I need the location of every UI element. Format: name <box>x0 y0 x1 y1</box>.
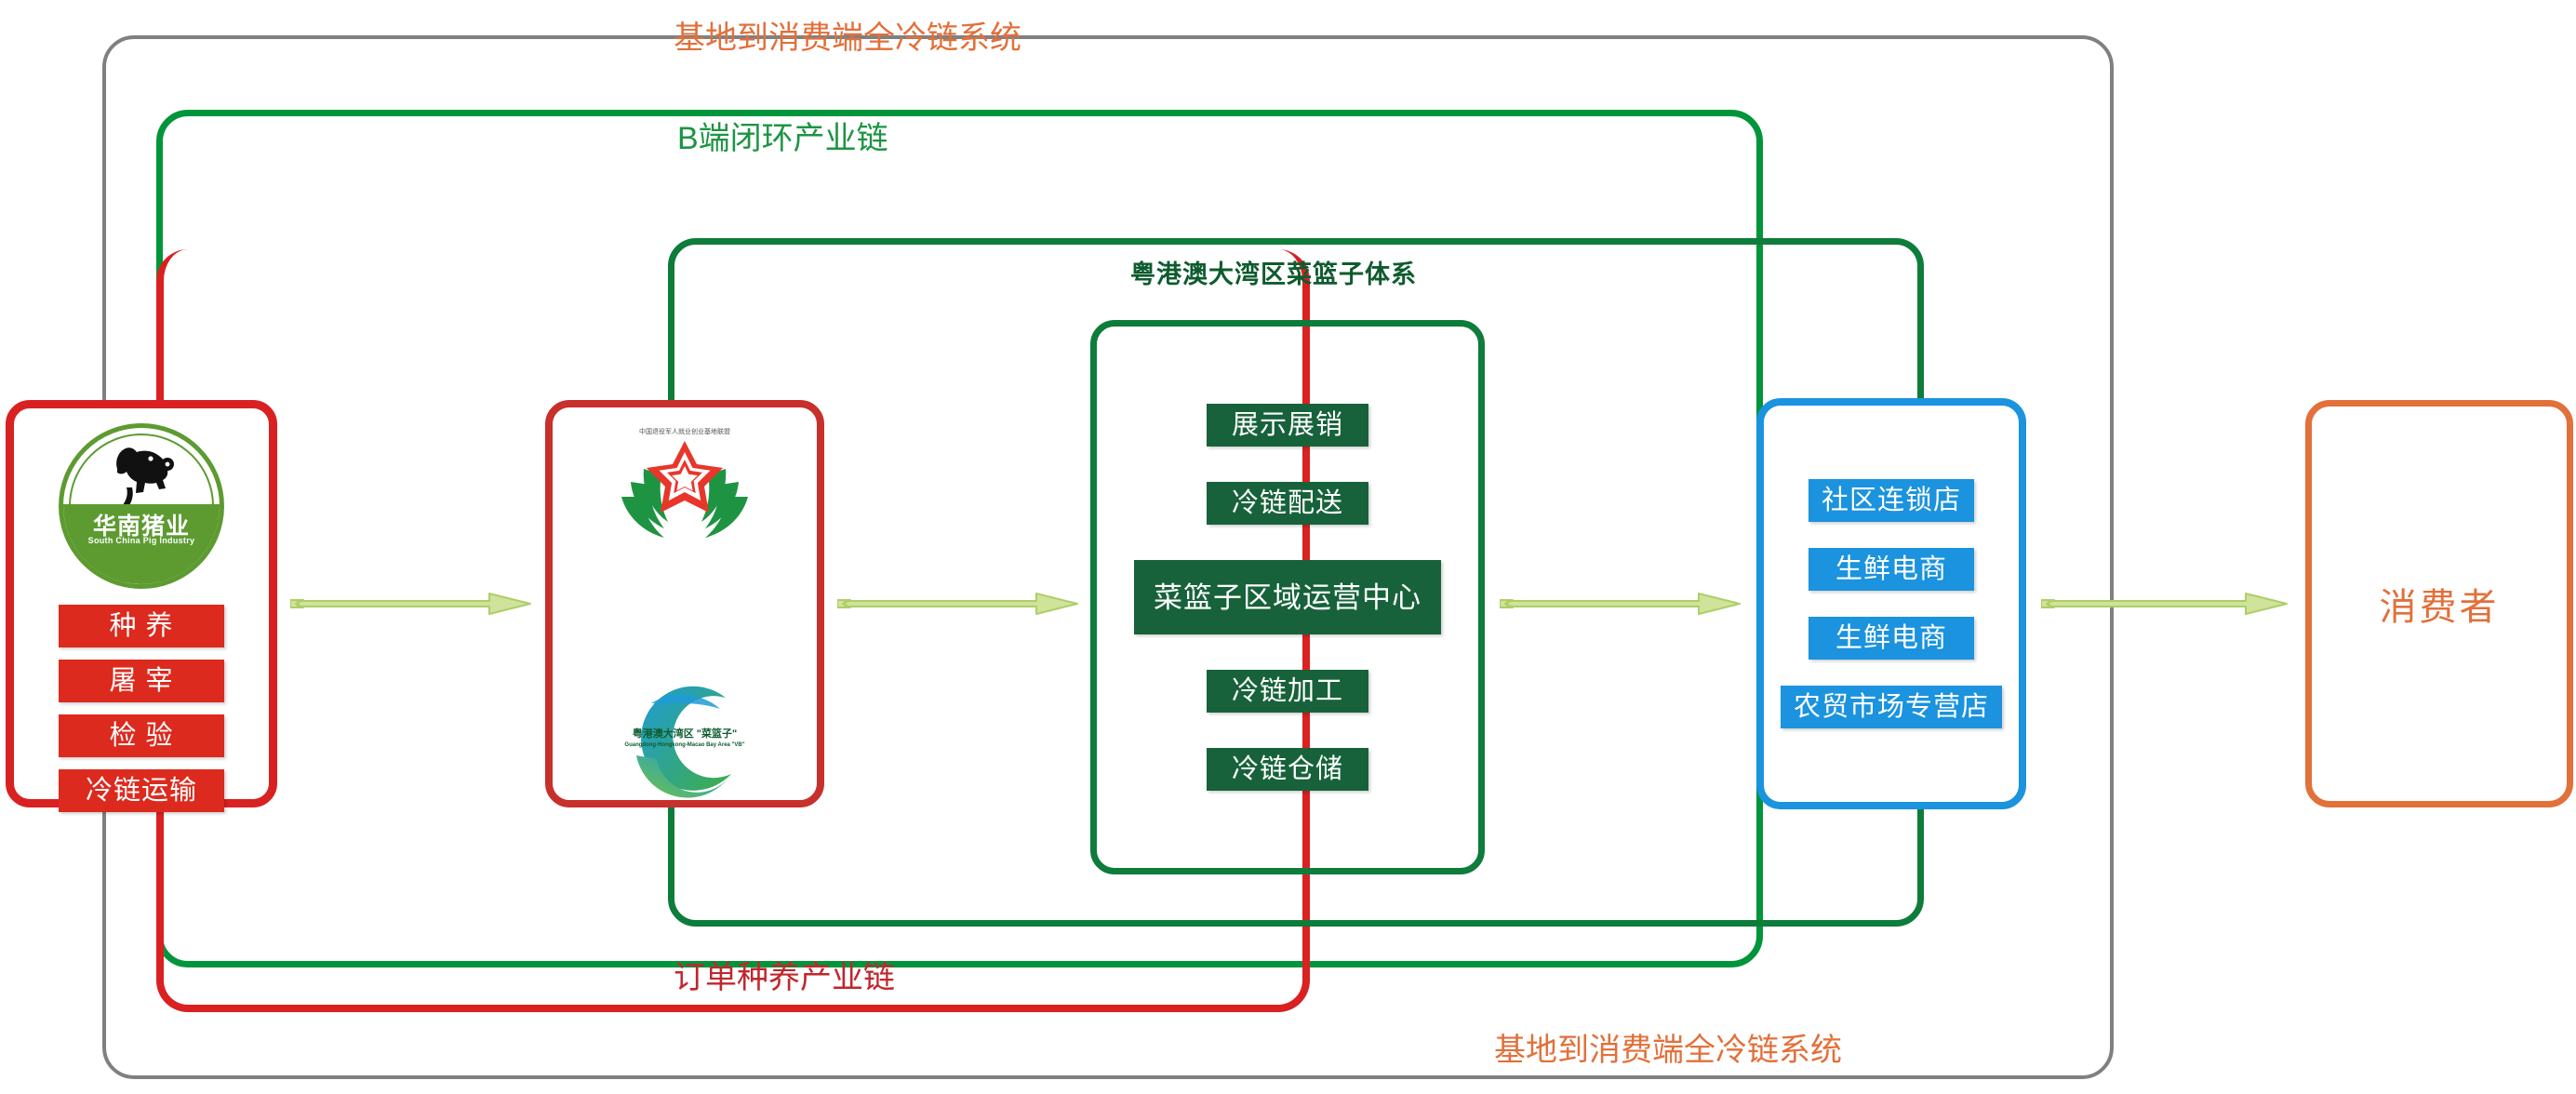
arrow-retail-to-consumer <box>2041 592 2290 623</box>
operation-slot-1: 冷链配送 <box>1207 464 1368 542</box>
operation-item-3[interactable]: 冷链加工 <box>1207 670 1368 713</box>
operation-item-2[interactable]: 菜篮子区域运营中心 <box>1134 560 1441 634</box>
operation-slot-4: 冷链仓储 <box>1207 730 1368 808</box>
retail-item-1[interactable]: 生鲜电商 <box>1809 548 1974 591</box>
consumer-stage-card[interactable]: 消费者 <box>2305 400 2573 807</box>
certification-stage-card[interactable]: 中国退役军人就业创业基地联盟 粤港澳大湾区 "菜篮子" Guangdon <box>545 400 824 807</box>
arrow-production-to-certification <box>290 592 534 623</box>
production-item-list: 种 养 屠 宰 检 验 冷链运输 <box>59 593 224 812</box>
pig-silhouette-icon <box>99 441 184 512</box>
operation-slot-2: 菜篮子区域运营中心 <box>1134 542 1441 652</box>
production-item-3[interactable]: 冷链运输 <box>59 769 224 812</box>
pig-logo-icon: 华南猪业 South China Pig Industry <box>59 423 224 589</box>
outer-frame-title-bottom: 基地到消费端全冷链系统 <box>1494 1034 1842 1066</box>
b-end-chain-label: B端闭环产业链 <box>677 123 888 154</box>
operation-slot-3: 冷链加工 <box>1207 652 1368 730</box>
svg-text:粤港澳大湾区 "菜篮子": 粤港澳大湾区 "菜篮子" <box>633 727 738 740</box>
veteran-star-emblem-icon: 中国退役军人就业创业基地联盟 <box>603 424 767 564</box>
svg-text:Guangdong-Hongkong-Macao Bay A: Guangdong-Hongkong-Macao Bay Area "VB" <box>624 742 744 748</box>
consumer-label: 消费者 <box>2380 577 2500 631</box>
operation-item-1[interactable]: 冷链配送 <box>1207 482 1368 525</box>
retail-stage-card[interactable]: 社区连锁店 生鲜电商 生鲜电商 农贸市场专营店 <box>1756 398 2026 809</box>
bay-area-system-title: 粤港澳大湾区菜篮子体系 <box>1130 262 1417 287</box>
production-item-2[interactable]: 检 验 <box>59 714 224 757</box>
retail-item-3[interactable]: 农贸市场专营店 <box>1781 686 2002 728</box>
supply-chain-diagram: 基地到消费端全冷链系统 B端闭环产业链 粤港澳大湾区菜篮子体系 订单种养产业链 … <box>0 0 2576 1094</box>
south-china-pig-logo: 华南猪业 South China Pig Industry <box>59 423 224 589</box>
operation-item-list: 展示展销 冷链配送 菜篮子区域运营中心 冷链加工 冷链仓储 <box>1090 320 1485 874</box>
arrow-operation-to-retail <box>1500 592 1743 623</box>
operation-item-4[interactable]: 冷链仓储 <box>1207 748 1368 791</box>
arrow-certification-to-operation <box>837 592 1081 623</box>
production-item-1[interactable]: 屠 宰 <box>59 660 224 702</box>
logo-subtitle: South China Pig Industry <box>63 536 220 545</box>
retail-item-2[interactable]: 生鲜电商 <box>1809 617 1974 660</box>
order-farming-chain-label: 订单种养产业链 <box>674 962 895 994</box>
production-stage-card[interactable]: 华南猪业 South China Pig Industry 种 养 屠 宰 检 … <box>6 400 277 807</box>
production-item-0[interactable]: 种 养 <box>59 605 224 647</box>
operation-slot-0: 展示展销 <box>1207 386 1368 464</box>
bay-area-vegetable-basket-icon: 粤港澳大湾区 "菜篮子" Guangdong-Hongkong-Macao Ba… <box>603 666 767 806</box>
retail-item-0[interactable]: 社区连锁店 <box>1809 479 1974 522</box>
svg-text:中国退役军人就业创业基地联盟: 中国退役军人就业创业基地联盟 <box>639 427 730 435</box>
outer-frame-title-top: 基地到消费端全冷链系统 <box>674 22 1021 54</box>
operation-item-0[interactable]: 展示展销 <box>1207 404 1368 447</box>
retail-item-list: 社区连锁店 生鲜电商 生鲜电商 农贸市场专营店 <box>1781 406 2002 802</box>
